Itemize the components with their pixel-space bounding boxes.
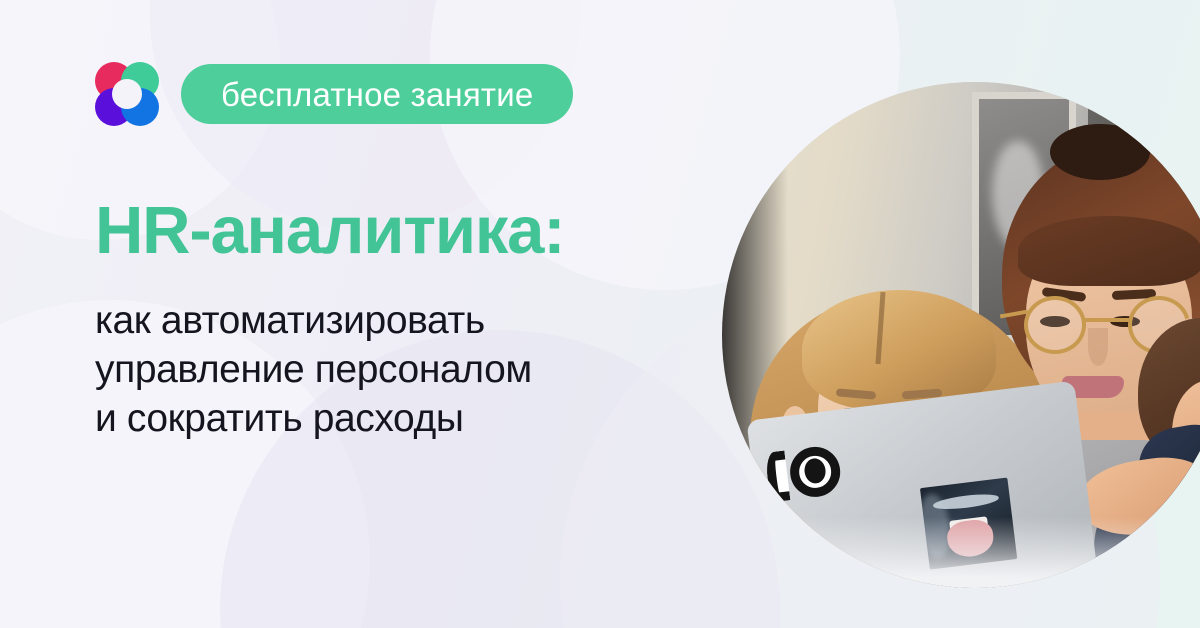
sticker-eye-partial (764, 450, 790, 502)
foreground-fade (722, 517, 1200, 588)
sticker-eye (787, 444, 843, 500)
header-row: бесплатное занятие (95, 62, 573, 126)
brand-logo (95, 62, 159, 126)
logo-center-circle-icon (112, 79, 142, 109)
subtitle-line: и сократить расходы (95, 394, 532, 443)
subtitle: как автоматизировать управление персонал… (95, 296, 532, 443)
subtitle-line: как автоматизировать (95, 296, 532, 345)
hair-bun (1050, 124, 1150, 180)
hero-photo (722, 82, 1200, 588)
hero-photo-scene (722, 82, 1200, 588)
subtitle-line: управление персоналом (95, 345, 532, 394)
promo-banner: бесплатное занятие HR-аналитика: как авт… (0, 0, 1200, 628)
ape-brow (932, 492, 1000, 512)
glasses-lens-left (1024, 296, 1086, 354)
free-lesson-badge: бесплатное занятие (181, 64, 573, 124)
googly-eyes-sticker-icon (764, 444, 843, 503)
page-title: HR-аналитика: (95, 196, 564, 266)
content-column: бесплатное занятие HR-аналитика: как авт… (95, 0, 735, 628)
hair-top (802, 290, 996, 410)
hairline (1018, 216, 1200, 286)
